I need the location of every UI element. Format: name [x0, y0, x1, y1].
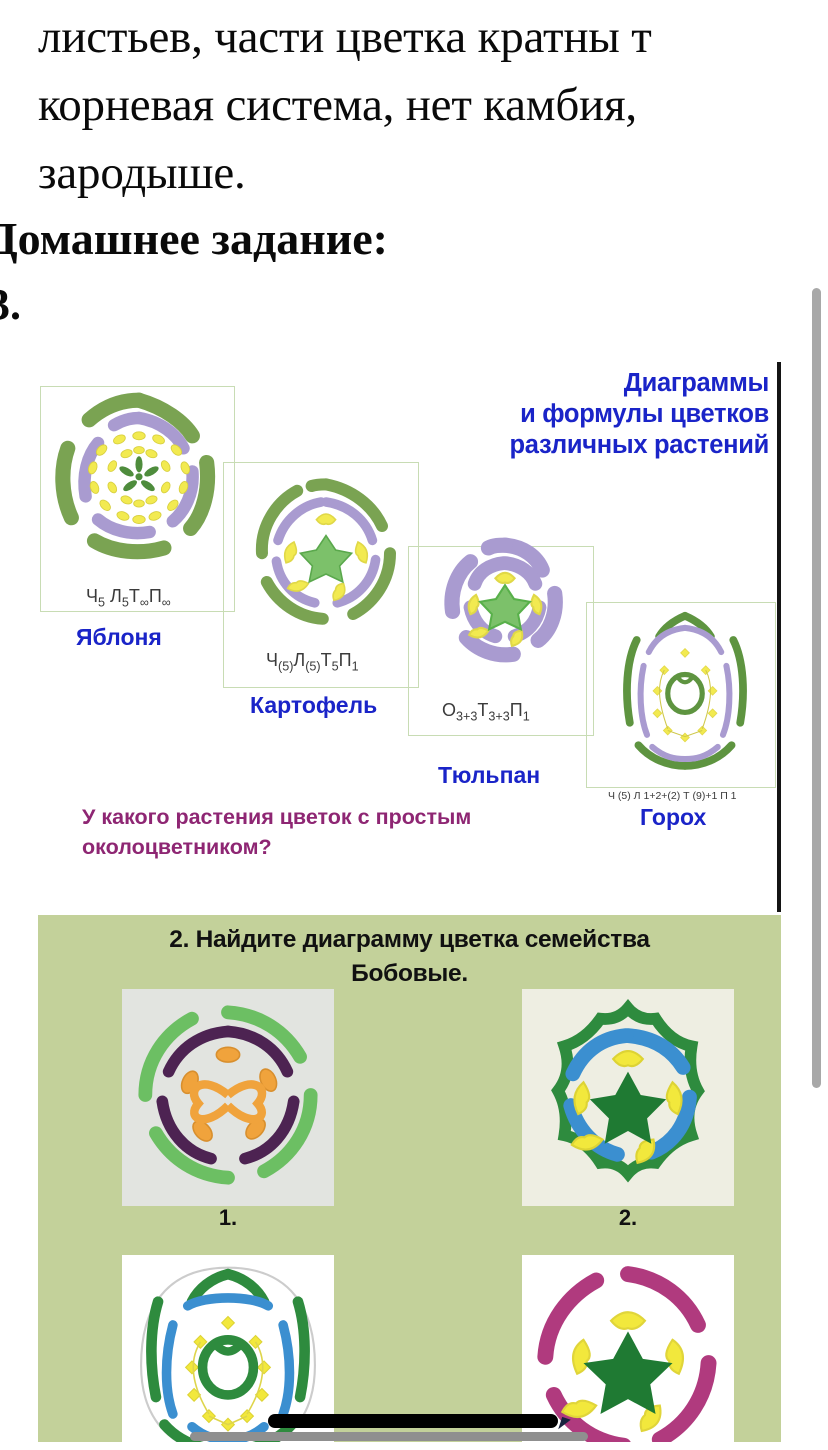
option-2-thumbnail[interactable]	[522, 989, 734, 1206]
apple-flower-formula: Ч5 Л5Т∞П∞	[86, 586, 171, 610]
tulip-flower-formula: О3+3Т3+3П1	[442, 700, 530, 724]
potato-flower-diagram	[246, 460, 406, 645]
plant-name-potato: Картофель	[250, 692, 377, 719]
perianth-question: У какого растения цветок с простым около…	[82, 802, 502, 862]
plant-name-apple: Яблоня	[76, 624, 162, 651]
tulip-flower-diagram	[436, 524, 574, 679]
task-number: 3.	[0, 276, 21, 334]
potato-flower-formula: Ч(5)Л(5)Т5П1	[266, 650, 359, 674]
slide2-title-line-2: Бобовые.	[38, 957, 781, 991]
pea-flower-diagram	[616, 600, 754, 785]
slide1-title-line-1: Диаграммы	[439, 368, 769, 399]
document-line-2: корневая система, нет камбия,	[38, 70, 637, 141]
legume-task-slide: 2. Найдите диаграмму цветка семейства Бо…	[38, 915, 781, 1442]
horizontal-scrollbar[interactable]	[190, 1432, 588, 1441]
homework-heading: Домашнее задание:	[0, 208, 388, 270]
plant-name-pea: Горох	[640, 804, 706, 831]
option-2-label: 2.	[522, 1205, 734, 1231]
slide2-title-line-1: 2. Найдите диаграмму цветка семейства	[38, 923, 781, 957]
vertical-scrollbar[interactable]	[812, 288, 821, 1088]
option-1-label: 1.	[122, 1205, 334, 1231]
plant-name-tulip: Тюльпан	[438, 762, 540, 789]
slide2-title: 2. Найдите диаграмму цветка семейства Бо…	[38, 923, 781, 991]
document-line-1: листьев, части цветка кратны т	[38, 2, 652, 73]
drag-handle-bar[interactable]	[268, 1414, 558, 1428]
slide1-title-line-2: и формулы цветков	[439, 399, 769, 430]
document-line-3: зародыше.	[38, 138, 246, 209]
flower-diagrams-slide: Диаграммы и формулы цветков различных ра…	[38, 362, 781, 912]
slide1-title: Диаграммы и формулы цветков различных ра…	[439, 368, 769, 461]
flower-diagram-option-1[interactable]: 1.	[122, 989, 334, 1201]
slide1-title-line-3: различных растений	[439, 430, 769, 461]
option-1-thumbnail[interactable]	[122, 989, 334, 1206]
pea-flower-formula: Ч (5) Л 1+2+(2) Т (9)+1 П 1	[608, 790, 737, 802]
apple-flower-diagram	[50, 382, 228, 573]
flower-diagram-option-2[interactable]: 2.	[522, 989, 734, 1201]
